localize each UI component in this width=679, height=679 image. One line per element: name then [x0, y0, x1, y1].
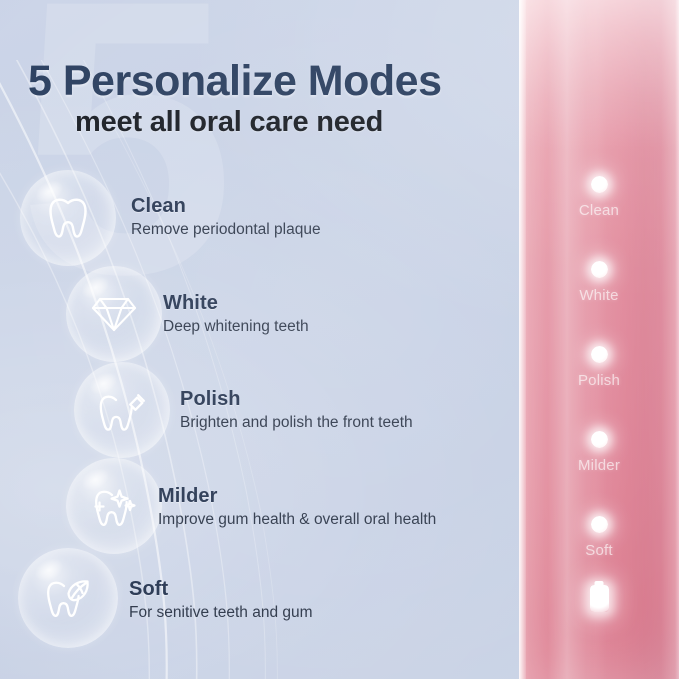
page-title: 5 Personalize Modes — [28, 60, 442, 103]
mode-bubble-soft — [18, 548, 118, 648]
mode-description: Brighten and polish the front teeth — [180, 413, 413, 432]
device-indicator-white: White — [519, 261, 679, 304]
led-indicator-icon — [591, 516, 608, 533]
device-indicator-label: Milder — [519, 457, 679, 474]
led-indicator-icon — [591, 176, 608, 193]
device-indicator-milder: Milder — [519, 431, 679, 474]
device-indicator-label: Soft — [519, 542, 679, 559]
mode-description: Remove periodontal plaque — [131, 220, 321, 239]
mode-title: White — [163, 292, 309, 314]
tooth-icon — [46, 195, 90, 241]
mode-title: Soft — [129, 578, 313, 600]
mode-title: Polish — [180, 388, 413, 410]
mode-row-polish: Polish Brighten and polish the front tee… — [180, 388, 413, 432]
toothbrush-handle: Clean White Polish Milder Soft — [519, 0, 679, 679]
mode-bubble-polish — [74, 362, 170, 458]
mode-description: Improve gum health & overall oral health — [158, 510, 436, 529]
tooth-brush-icon — [97, 386, 147, 434]
device-indicator-clean: Clean — [519, 176, 679, 219]
mode-bubble-clean — [20, 170, 116, 266]
mode-title: Clean — [131, 195, 321, 217]
device-indicator-label: Clean — [519, 202, 679, 219]
mode-title: Milder — [158, 485, 436, 507]
mode-row-white: White Deep whitening teeth — [163, 292, 309, 336]
device-indicator-soft: Soft — [519, 516, 679, 559]
device-indicator-label: Polish — [519, 372, 679, 389]
led-indicator-icon — [591, 261, 608, 278]
led-indicator-icon — [591, 346, 608, 363]
led-indicator-icon — [591, 431, 608, 448]
tooth-leaf-icon — [42, 573, 94, 623]
mode-description: For senitive teeth and gum — [129, 603, 313, 622]
diamond-icon — [91, 293, 137, 335]
mode-row-milder: Milder Improve gum health & overall oral… — [158, 485, 436, 529]
handle-left-edge-highlight — [519, 0, 526, 679]
battery-indicator — [519, 585, 679, 612]
mode-bubble-milder — [66, 458, 162, 554]
mode-bubble-white — [66, 266, 162, 362]
infographic-canvas: 5 5 Personalize Modes meet all oral care… — [0, 0, 679, 679]
mode-row-soft: Soft For senitive teeth and gum — [129, 578, 313, 622]
page-subtitle: meet all oral care need — [75, 108, 383, 137]
mode-row-clean: Clean Remove periodontal plaque — [131, 195, 321, 239]
device-indicator-label: White — [519, 287, 679, 304]
battery-icon — [590, 585, 609, 612]
tooth-sparkle-icon — [89, 482, 139, 530]
mode-description: Deep whitening teeth — [163, 317, 309, 336]
handle-gloss-highlight — [519, 0, 679, 679]
device-indicator-polish: Polish — [519, 346, 679, 389]
